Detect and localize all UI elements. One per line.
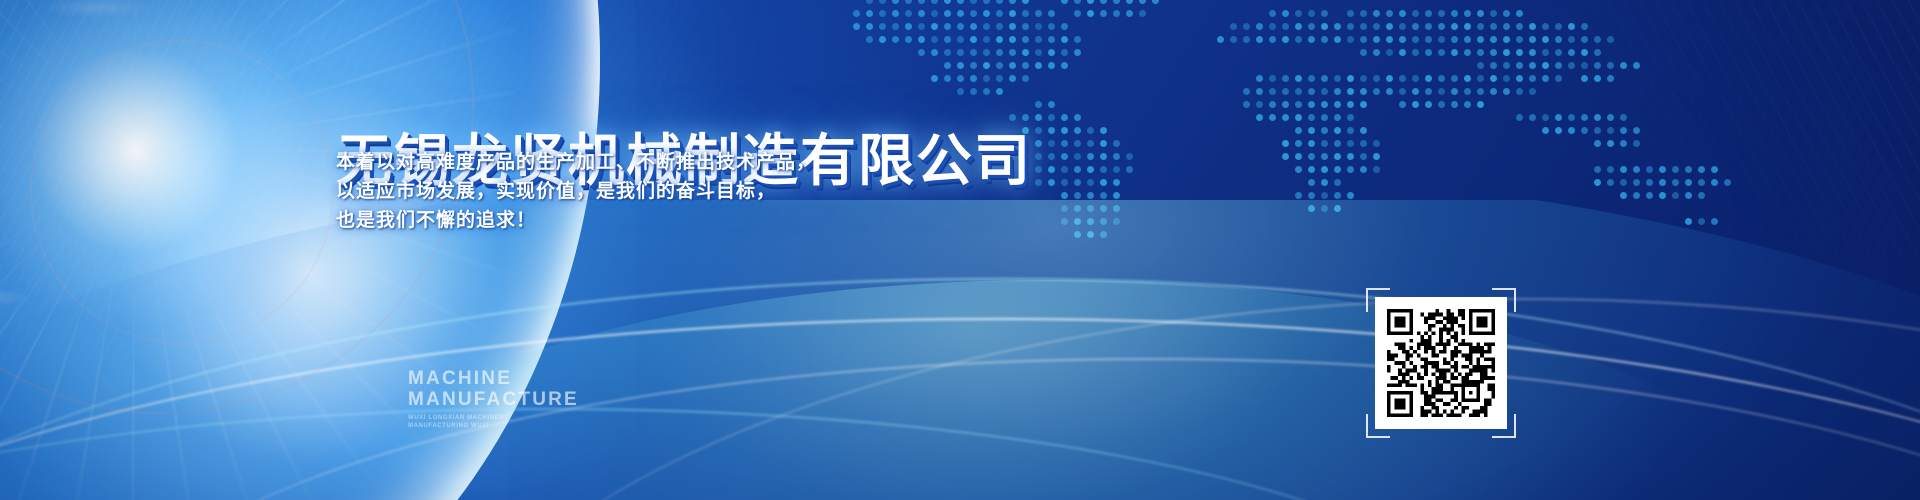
map-dot [983,75,990,82]
map-dot [1347,10,1354,17]
map-dot [1607,166,1614,173]
map-dot [1724,179,1731,186]
map-dot [1295,10,1302,17]
map-dot [1516,49,1523,56]
map-dot [983,23,990,30]
streak-line [100,358,1920,500]
map-dot [1230,36,1237,43]
map-dot [1321,23,1328,30]
map-dot [1594,49,1601,56]
map-dot [1321,166,1328,173]
map-dot [1659,192,1666,199]
map-dot [1126,10,1133,17]
map-dot [1074,0,1081,4]
map-dot [944,75,951,82]
map-dot [1425,49,1432,56]
map-dot [1074,205,1081,212]
map-dot [957,36,964,43]
map-dot [1646,192,1653,199]
map-dot [1386,75,1393,82]
map-dot [1451,49,1458,56]
map-dot [1464,75,1471,82]
map-dot [996,75,1003,82]
map-dot [1607,140,1614,147]
map-dot [1581,36,1588,43]
map-dot [1269,23,1276,30]
map-dot [1100,192,1107,199]
map-dot [1308,114,1315,121]
map-dot [1308,192,1315,199]
map-dot [1672,179,1679,186]
map-dot [1464,10,1471,17]
map-dot [1464,36,1471,43]
map-dot [1256,114,1263,121]
map-dot [944,49,951,56]
map-dot [1269,36,1276,43]
map-dot [1581,114,1588,121]
map-dot [1308,101,1315,108]
map-dot [1100,153,1107,160]
map-dot [1542,62,1549,69]
map-dot [1334,114,1341,121]
map-dot [1334,101,1341,108]
map-dot [1399,23,1406,30]
map-dot [1295,140,1302,147]
map-dot [1113,218,1120,225]
map-dot [957,75,964,82]
map-dot [1503,88,1510,95]
brand-mark-line-1: MACHINE [408,368,579,389]
map-dot [1126,153,1133,160]
map-dot [1607,36,1614,43]
map-dot [853,23,860,30]
map-dot [996,62,1003,69]
map-dot [1048,101,1055,108]
map-dot [1568,23,1575,30]
map-dot [1230,23,1237,30]
map-dot [1451,23,1458,30]
map-dot [1048,114,1055,121]
map-dot [853,10,860,17]
map-dot [1074,218,1081,225]
map-dot [1542,114,1549,121]
map-dot [1308,10,1315,17]
map-dot [1269,88,1276,95]
map-dot [1048,179,1055,186]
map-dot [1087,192,1094,199]
map-dot [1568,114,1575,121]
map-dot [1308,36,1315,43]
map-dot [1672,192,1679,199]
map-dot [1477,36,1484,43]
map-dot [1477,23,1484,30]
map-dot [1009,23,1016,30]
map-dot [1087,231,1094,238]
slogan-block: 本着以对高难度产品的生产加工、不断推出技术产品， 以适应市场发展，实现价值，是我… [336,148,816,235]
map-dot [1620,62,1627,69]
map-dot [1048,140,1055,147]
map-dot [1048,23,1055,30]
map-dot [1607,179,1614,186]
map-dot [1451,36,1458,43]
map-dot [944,36,951,43]
map-dot [1490,23,1497,30]
map-dot [1321,192,1328,199]
map-dot [1503,10,1510,17]
map-dot [1633,166,1640,173]
map-dot [1438,23,1445,30]
map-dot [970,23,977,30]
map-dot [1087,179,1094,186]
map-dot [1334,127,1341,134]
map-dot [1633,179,1640,186]
map-dot [1425,101,1432,108]
map-dot [1321,114,1328,121]
map-dot [1035,127,1042,134]
map-dot [1360,49,1367,56]
map-dot [931,36,938,43]
map-dot [866,10,873,17]
map-dot [1126,166,1133,173]
map-dot [892,0,899,4]
map-dot [1048,166,1055,173]
map-dot [1373,166,1380,173]
map-dot [1620,114,1627,121]
map-dot [1347,101,1354,108]
map-dot [931,0,938,4]
map-dot [1620,166,1627,173]
map-dot [1633,62,1640,69]
map-dot [1451,10,1458,17]
map-dot [1399,10,1406,17]
map-dot [879,0,886,4]
map-dot [1646,179,1653,186]
map-dot [1360,140,1367,147]
map-dot [1438,36,1445,43]
map-dot [1269,75,1276,82]
map-dot [1295,75,1302,82]
map-dot [1360,101,1367,108]
map-dot [1386,88,1393,95]
map-dot [1295,23,1302,30]
map-dot [1360,88,1367,95]
map-dot [1048,36,1055,43]
map-dot [1399,36,1406,43]
map-dot [957,0,964,4]
map-dot [1048,10,1055,17]
map-dot [879,23,886,30]
map-dot [1633,127,1640,134]
map-dot [1360,75,1367,82]
map-dot [1074,179,1081,186]
map-dot [1542,127,1549,134]
map-dot [1113,0,1120,4]
map-dot [1490,75,1497,82]
map-dot [957,23,964,30]
qr-code-block[interactable] [1366,288,1516,438]
map-dot [1061,179,1068,186]
slogan-line-3: 也是我们不懈的追求！ [336,206,816,235]
map-dot [1152,0,1159,4]
map-dot [1516,88,1523,95]
map-dot [1308,127,1315,134]
map-dot [1659,179,1666,186]
map-dot [1334,192,1341,199]
map-dot [1620,179,1627,186]
map-dot [1074,140,1081,147]
map-dot [1321,140,1328,147]
map-dot [1555,62,1562,69]
map-dot [1477,10,1484,17]
map-dot [1360,127,1367,134]
qr-code-card[interactable] [1375,297,1507,429]
map-dot [1568,36,1575,43]
map-dot [1555,75,1562,82]
map-dot [1295,192,1302,199]
map-dot [1373,49,1380,56]
map-dot [1464,23,1471,30]
map-dot [996,36,1003,43]
map-dot [1295,153,1302,160]
map-dot [1087,127,1094,134]
map-dot [1490,62,1497,69]
map-dot [1295,88,1302,95]
map-dot [1321,101,1328,108]
map-dot [1321,88,1328,95]
map-dot [1438,101,1445,108]
streak-line [0,318,1920,500]
map-dot [957,62,964,69]
map-dot [1074,153,1081,160]
map-dot [1347,153,1354,160]
map-dot [1347,75,1354,82]
map-dot [1061,62,1068,69]
map-dot [1620,127,1627,134]
map-dot [1087,0,1094,4]
map-dot [1607,75,1614,82]
streak-line [420,298,1920,500]
map-dot [1399,49,1406,56]
map-dot [866,36,873,43]
map-dot [1035,140,1042,147]
map-dot [1061,36,1068,43]
map-dot [1308,205,1315,212]
map-dot [1282,23,1289,30]
map-dot [1399,101,1406,108]
map-dot [1529,75,1536,82]
map-dot [1282,153,1289,160]
map-dot [1243,36,1250,43]
map-dot [1685,166,1692,173]
map-dot [1100,10,1107,17]
map-dot [905,36,912,43]
map-dot [1256,36,1263,43]
map-dot [1373,10,1380,17]
map-dot [1594,62,1601,69]
map-dot [1308,166,1315,173]
map-dot [1425,36,1432,43]
map-dot [879,10,886,17]
map-dot [1100,140,1107,147]
map-dot [931,49,938,56]
map-dot [1282,10,1289,17]
map-dot [1334,23,1341,30]
map-dot [1425,88,1432,95]
map-dot [1061,49,1068,56]
map-dot [1035,153,1042,160]
map-dot [1516,10,1523,17]
map-dot [1022,10,1029,17]
map-dot [1698,166,1705,173]
map-dot [1503,36,1510,43]
map-dot [1061,23,1068,30]
map-dot [1074,10,1081,17]
map-dot [1256,75,1263,82]
map-dot [996,0,1003,4]
map-dot [1308,75,1315,82]
map-dot [1503,49,1510,56]
map-dot [1087,10,1094,17]
map-dot [1009,75,1016,82]
map-dot [1035,179,1042,186]
map-dot [1100,218,1107,225]
map-dot [1334,75,1341,82]
map-dot [1243,88,1250,95]
map-dot [918,10,925,17]
map-dot [944,0,951,4]
map-dot [1256,101,1263,108]
map-dot [918,36,925,43]
map-dot [1399,75,1406,82]
map-dot [1113,140,1120,147]
map-dot [1555,23,1562,30]
map-dot [1373,88,1380,95]
map-dot [918,0,925,4]
map-dot [1594,179,1601,186]
map-dot [1594,114,1601,121]
map-dot [1321,205,1328,212]
map-dot [1256,88,1263,95]
map-dot [1672,166,1679,173]
map-dot [1412,49,1419,56]
map-dot [892,36,899,43]
map-dot [1035,62,1042,69]
map-dot [1334,179,1341,186]
map-dot [1464,101,1471,108]
map-dot [1620,192,1627,199]
map-dot [1035,166,1042,173]
map-dot [1282,88,1289,95]
map-dot [1308,23,1315,30]
map-dot [905,10,912,17]
map-dot [1009,0,1016,4]
map-dot [1334,205,1341,212]
map-dot [1347,88,1354,95]
map-dot [970,36,977,43]
map-dot [1347,127,1354,134]
map-dot [1139,10,1146,17]
map-dot [1607,62,1614,69]
map-dot [1568,127,1575,134]
map-dot [1464,49,1471,56]
map-dot [1347,192,1354,199]
map-dot [1698,218,1705,225]
map-dot [1022,23,1029,30]
map-dot [1607,114,1614,121]
map-dot [1048,62,1055,69]
map-dot [1581,23,1588,30]
map-dot [996,23,1003,30]
map-dot [1360,10,1367,17]
map-dot [1555,36,1562,43]
map-dot [1347,140,1354,147]
map-dot [1594,36,1601,43]
map-dot [1022,0,1029,4]
map-dot [1373,153,1380,160]
map-dot [1113,166,1120,173]
slogan-line-2: 以适应市场发展，实现价值，是我们的奋斗目标， [336,177,816,206]
map-dot [1074,166,1081,173]
map-dot [1594,127,1601,134]
map-dot [1581,62,1588,69]
map-dot [1061,127,1068,134]
map-dot [1061,218,1068,225]
map-dot [1113,10,1120,17]
map-dot [1360,23,1367,30]
map-dot [1009,49,1016,56]
map-dot [1269,101,1276,108]
map-dot [892,10,899,17]
map-dot [970,10,977,17]
map-dot [1100,166,1107,173]
map-dot [1477,49,1484,56]
map-dot [1282,75,1289,82]
map-dot [1061,0,1068,4]
map-dot [866,23,873,30]
brand-mark-line-2: MANUFACTURE [408,389,579,410]
map-dot [970,0,977,4]
map-dot [1451,75,1458,82]
map-dot [983,36,990,43]
map-dot [1373,75,1380,82]
map-dot [1009,10,1016,17]
map-dot [1347,114,1354,121]
map-dot [1360,166,1367,173]
map-dot [1282,140,1289,147]
map-dot [1425,10,1432,17]
streak-line [0,408,1500,500]
map-dot [1022,75,1029,82]
map-dot [1113,192,1120,199]
map-dot [1386,23,1393,30]
map-dot [970,88,977,95]
map-dot [1477,101,1484,108]
map-dot [1529,114,1536,121]
map-dot [931,10,938,17]
map-dot [1425,75,1432,82]
map-dot [1139,0,1146,4]
map-dot [1438,10,1445,17]
map-dot [1269,10,1276,17]
map-dot [1594,75,1601,82]
map-dot [1399,88,1406,95]
map-dot [1438,88,1445,95]
slogan-line-1: 本着以对高难度产品的生产加工、不断推出技术产品， [336,148,816,177]
qr-code-icon[interactable] [1387,309,1495,417]
map-dot [1685,192,1692,199]
map-dot [1087,153,1094,160]
map-dot [1607,127,1614,134]
